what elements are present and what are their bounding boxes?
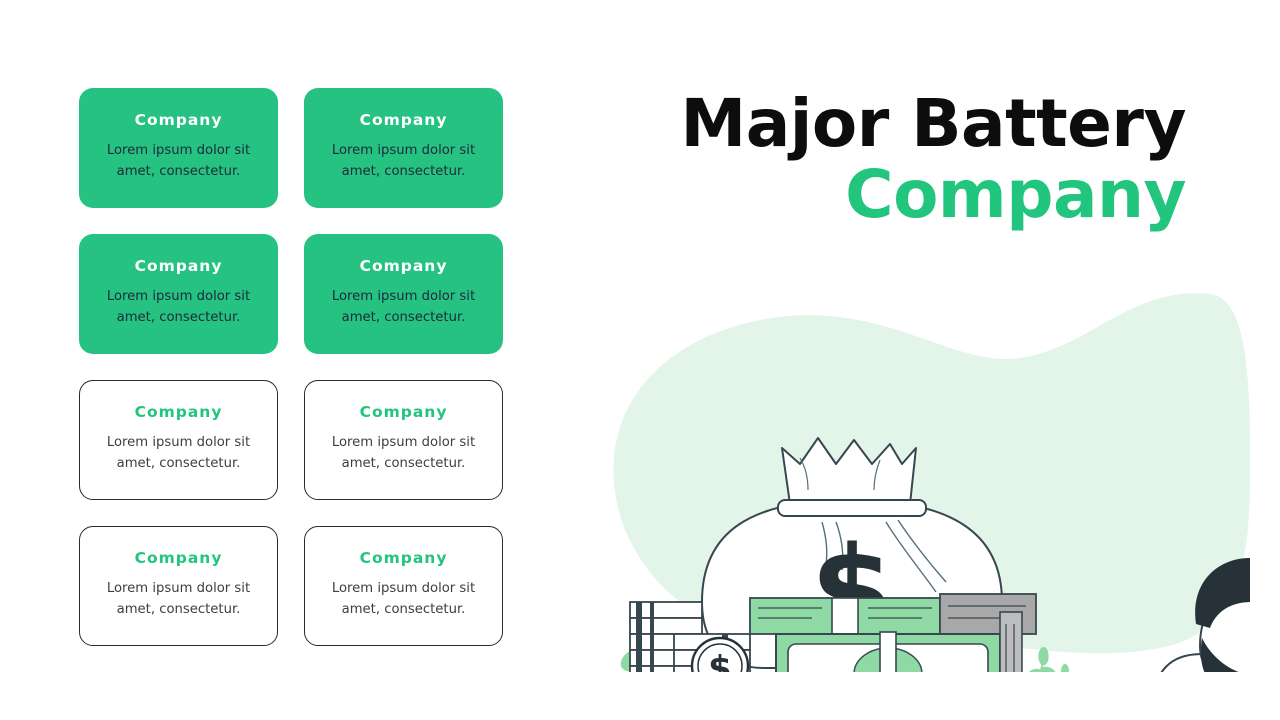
company-card-body: Lorem ipsum dolor sit amet, consectetur. xyxy=(96,579,261,620)
company-card-title: Company xyxy=(360,550,448,567)
company-card-title: Company xyxy=(135,404,223,421)
company-card[interactable]: Company Lorem ipsum dolor sit amet, cons… xyxy=(304,234,503,354)
company-card-title: Company xyxy=(360,112,448,129)
company-card[interactable]: Company Lorem ipsum dolor sit amet, cons… xyxy=(79,526,278,646)
company-card-title: Company xyxy=(135,112,223,129)
company-card-grid: Company Lorem ipsum dolor sit amet, cons… xyxy=(79,88,504,646)
page-title-line-2: Company xyxy=(546,159,1186,230)
company-card-title: Company xyxy=(135,258,223,275)
company-card-body: Lorem ipsum dolor sit amet, consectetur. xyxy=(96,433,261,474)
company-card[interactable]: Company Lorem ipsum dolor sit amet, cons… xyxy=(304,88,503,208)
company-card-body: Lorem ipsum dolor sit amet, consectetur. xyxy=(321,579,486,620)
company-card-body: Lorem ipsum dolor sit amet, consectetur. xyxy=(321,141,486,182)
company-card-title: Company xyxy=(360,258,448,275)
company-card[interactable]: Company Lorem ipsum dolor sit amet, cons… xyxy=(79,380,278,500)
company-card[interactable]: Company Lorem ipsum dolor sit amet, cons… xyxy=(79,88,278,208)
company-card[interactable]: Company Lorem ipsum dolor sit amet, cons… xyxy=(304,380,503,500)
company-card-body: Lorem ipsum dolor sit amet, consectetur. xyxy=(321,287,486,328)
business-deal-handshake-illustration: $ xyxy=(550,272,1250,672)
company-card-title: Company xyxy=(360,404,448,421)
company-card-body: Lorem ipsum dolor sit amet, consectetur. xyxy=(321,433,486,474)
company-card[interactable]: Company Lorem ipsum dolor sit amet, cons… xyxy=(79,234,278,354)
page-title: Major Battery Company xyxy=(546,88,1186,231)
company-card[interactable]: Company Lorem ipsum dolor sit amet, cons… xyxy=(304,526,503,646)
company-card-body: Lorem ipsum dolor sit amet, consectetur. xyxy=(96,141,261,182)
svg-text:$: $ xyxy=(708,649,732,672)
company-card-body: Lorem ipsum dolor sit amet, consectetur. xyxy=(96,287,261,328)
page-title-line-1: Major Battery xyxy=(546,88,1186,159)
slide-canvas: Company Lorem ipsum dolor sit amet, cons… xyxy=(0,0,1280,720)
company-card-title: Company xyxy=(135,550,223,567)
banknote-stack-icon xyxy=(750,594,1036,672)
